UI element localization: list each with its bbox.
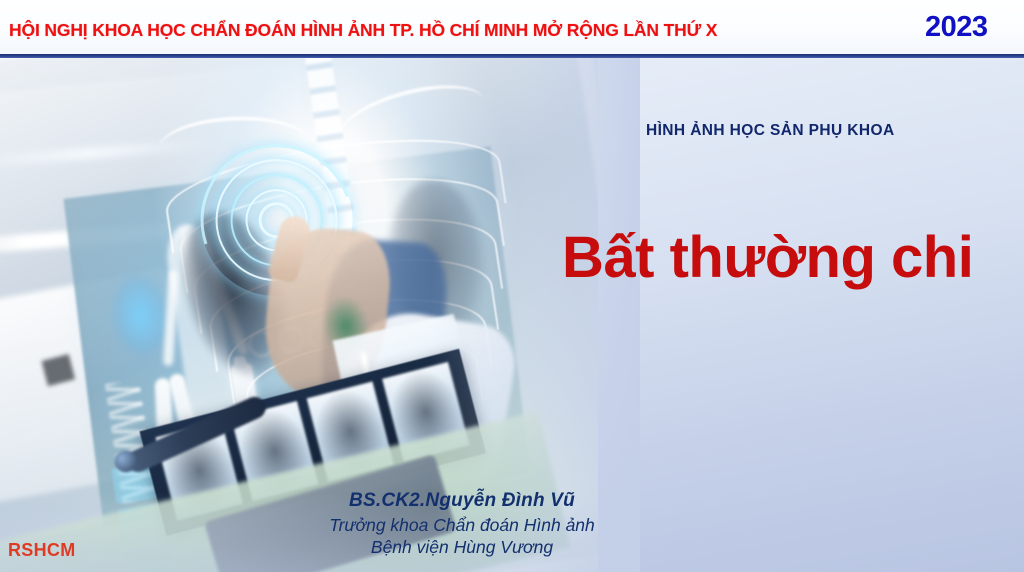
- author-organization: Bệnh viện Hùng Vương: [0, 536, 1024, 558]
- slide-root: HỘI NGHỊ KHOA HỌC CHẨN ĐOÁN HÌNH ẢNH TP.…: [0, 0, 1024, 572]
- header-divider: [0, 54, 1024, 58]
- rshcm-logo: RSHCM: [8, 540, 76, 561]
- conference-title: HỘI NGHỊ KHOA HỌC CHẨN ĐOÁN HÌNH ẢNH TP.…: [9, 20, 717, 41]
- conference-year: 2023: [925, 11, 988, 44]
- page-title: Bất thường chi: [562, 228, 973, 289]
- author-block: BS.CK2.Nguyễn Đình Vũ Trưởng khoa Chẩn đ…: [0, 488, 1024, 558]
- author-name: BS.CK2.Nguyễn Đình Vũ: [0, 488, 1024, 514]
- author-role: Trưởng khoa Chẩn đoán Hình ảnh: [0, 514, 1024, 536]
- section-subtitle: HÌNH ẢNH HỌC SẢN PHỤ KHOA: [646, 122, 895, 140]
